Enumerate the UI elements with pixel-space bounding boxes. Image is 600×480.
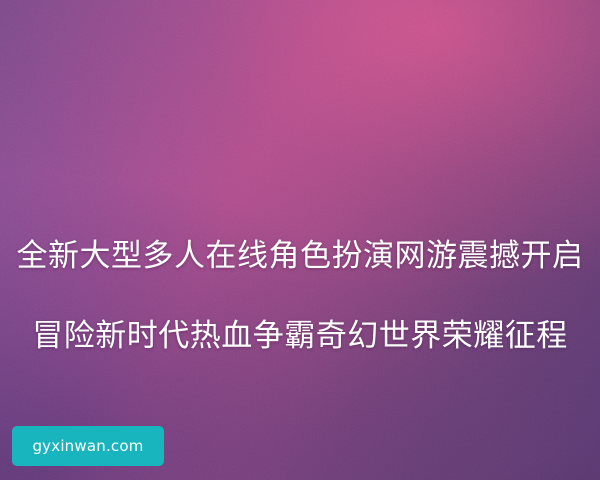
headline-text: 全新大型多人在线角色扮演网游震撼开启 冒险新时代热血争霸奇幻世界荣耀征程 [0,196,600,396]
headline-line-2: 冒险新时代热血争霸奇幻世界荣耀征程 [0,316,600,356]
watermark-label: gyxinwan.com [32,437,143,455]
image-canvas: 全新大型多人在线角色扮演网游震撼开启 冒险新时代热血争霸奇幻世界荣耀征程 gyx… [0,0,600,480]
watermark-badge: gyxinwan.com [12,426,164,466]
headline-line-1: 全新大型多人在线角色扮演网游震撼开启 [0,236,600,276]
